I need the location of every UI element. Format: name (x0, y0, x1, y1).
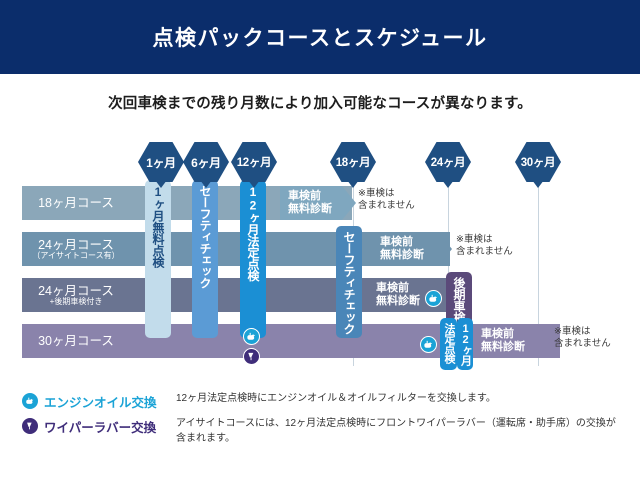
milestone-block-safety1[interactable]: セーフティチェック (192, 180, 218, 338)
exclusion-note: ※車検は含まれません (554, 326, 611, 351)
arrow-label: 車検前無料診断 (380, 236, 424, 261)
exclusion-note: ※車検は含まれません (358, 188, 415, 213)
pre-inspection-arrow: 車検前無料診断 (473, 324, 551, 358)
oil-change-icon (243, 328, 260, 345)
legend-item-name: ワイパーラバー交換 (44, 417, 174, 436)
milestone-label: 1ヶ月無料点検 (152, 185, 164, 268)
course-name: 18ヶ月コース (38, 196, 114, 210)
wiper-blade-icon (22, 418, 38, 434)
milestone-label: セーフティチェック (343, 231, 355, 335)
note-line: ※車検は (456, 234, 492, 245)
milestone-label: 12ヶ月法定点検 (247, 185, 259, 281)
milestone-block-legal12b[interactable]: 法定点検 (440, 318, 457, 370)
wiper-blade-icon (243, 348, 260, 365)
course-name: 24ヶ月コース (38, 284, 114, 298)
timeline-marker-stem (347, 180, 359, 188)
exclusion-note: ※車検は含まれません (456, 234, 513, 259)
timeline-marker-stem (155, 180, 167, 188)
course-sublabel: +後期車検付き (50, 298, 103, 307)
legend: エンジンオイル交換12ヶ月法定点検時にエンジンオイル＆オイルフィルターを交換しま… (22, 392, 622, 452)
note-line: 含まれません (456, 246, 513, 257)
legend-item: エンジンオイル交換12ヶ月法定点検時にエンジンオイル＆オイルフィルターを交換しま… (22, 392, 622, 411)
oil-change-icon (425, 290, 442, 307)
note-line: 含まれません (554, 338, 611, 349)
course-sublabel: （アイサイトコース有） (32, 252, 119, 261)
course-row-label[interactable]: 24ヶ月コース+後期車検付き (22, 278, 130, 312)
milestone-block-safety2[interactable]: セーフティチェック (336, 226, 362, 338)
oil-change-icon (420, 336, 437, 353)
subtitle-text: 次回車検までの残り月数により加入可能なコースが異なります。 (0, 92, 640, 113)
timeline-marker-stem (442, 180, 454, 188)
legend-item-description: アイサイトコースには、12ヶ月法定点検時にフロントワイパーラバー（運転席・助手席… (176, 417, 622, 446)
legend-item: ワイパーラバー交換アイサイトコースには、12ヶ月法定点検時にフロントワイパーラバ… (22, 417, 622, 446)
course-row-label[interactable]: 24ヶ月コース（アイサイトコース有） (22, 232, 130, 266)
course-row-label[interactable]: 30ヶ月コース (22, 324, 130, 358)
arrow-label: 車検前無料診断 (288, 190, 332, 215)
course-name: 24ヶ月コース (38, 238, 114, 252)
timeline-marker-stem (532, 180, 544, 188)
milestone-block-legal12[interactable]: 12ヶ月法定点検 (240, 180, 266, 338)
timeline-marker-stem (200, 180, 212, 188)
note-line: 含まれません (358, 200, 415, 211)
arrow-label: 車検前無料診断 (376, 282, 420, 307)
oil-change-icon (22, 393, 38, 409)
milestone-block-free1[interactable]: 1ヶ月無料点検 (145, 180, 171, 338)
timeline-marker-30ヶ月[interactable]: 30ヶ月 (515, 142, 561, 182)
timeline-marker-6ヶ月[interactable]: 6ヶ月 (183, 142, 229, 182)
timeline-marker-stem (248, 180, 260, 188)
legend-item-description: 12ヶ月法定点検時にエンジンオイル＆オイルフィルターを交換します。 (176, 392, 496, 407)
milestone-label: 法定点検 (443, 323, 454, 363)
page-title: 点検パックコースとスケジュール (153, 22, 488, 52)
timeline-marker-12ヶ月[interactable]: 12ヶ月 (231, 142, 277, 182)
course-name: 30ヶ月コース (38, 334, 114, 348)
milestone-label: 後期車検 (453, 277, 465, 323)
timeline-marker-24ヶ月[interactable]: 24ヶ月 (425, 142, 471, 182)
pre-inspection-arrow: 車検前無料診断 (280, 186, 356, 220)
page-header: 点検パックコースとスケジュール (0, 0, 640, 74)
arrow-label: 車検前無料診断 (481, 328, 525, 353)
timeline-marker-1ヶ月[interactable]: 1ヶ月 (138, 142, 184, 182)
legend-item-name: エンジンオイル交換 (44, 392, 174, 411)
note-line: ※車検は (554, 326, 590, 337)
milestone-label: セーフティチェック (199, 185, 211, 289)
note-line: ※車検は (358, 188, 394, 199)
timeline-marker-18ヶ月[interactable]: 18ヶ月 (330, 142, 376, 182)
schedule-chart: 18ヶ月コース24ヶ月コース（アイサイトコース有）24ヶ月コース+後期車検付き3… (0, 136, 640, 384)
milestone-label: 12ヶ月 (460, 323, 471, 365)
pre-inspection-arrow: 車検前無料診断 (372, 232, 452, 266)
infographic-root: 点検パックコースとスケジュール 次回車検までの残り月数により加入可能なコースが異… (0, 0, 640, 480)
course-row-label[interactable]: 18ヶ月コース (22, 186, 130, 220)
milestone-block-legal12c[interactable]: 12ヶ月 (457, 318, 473, 370)
